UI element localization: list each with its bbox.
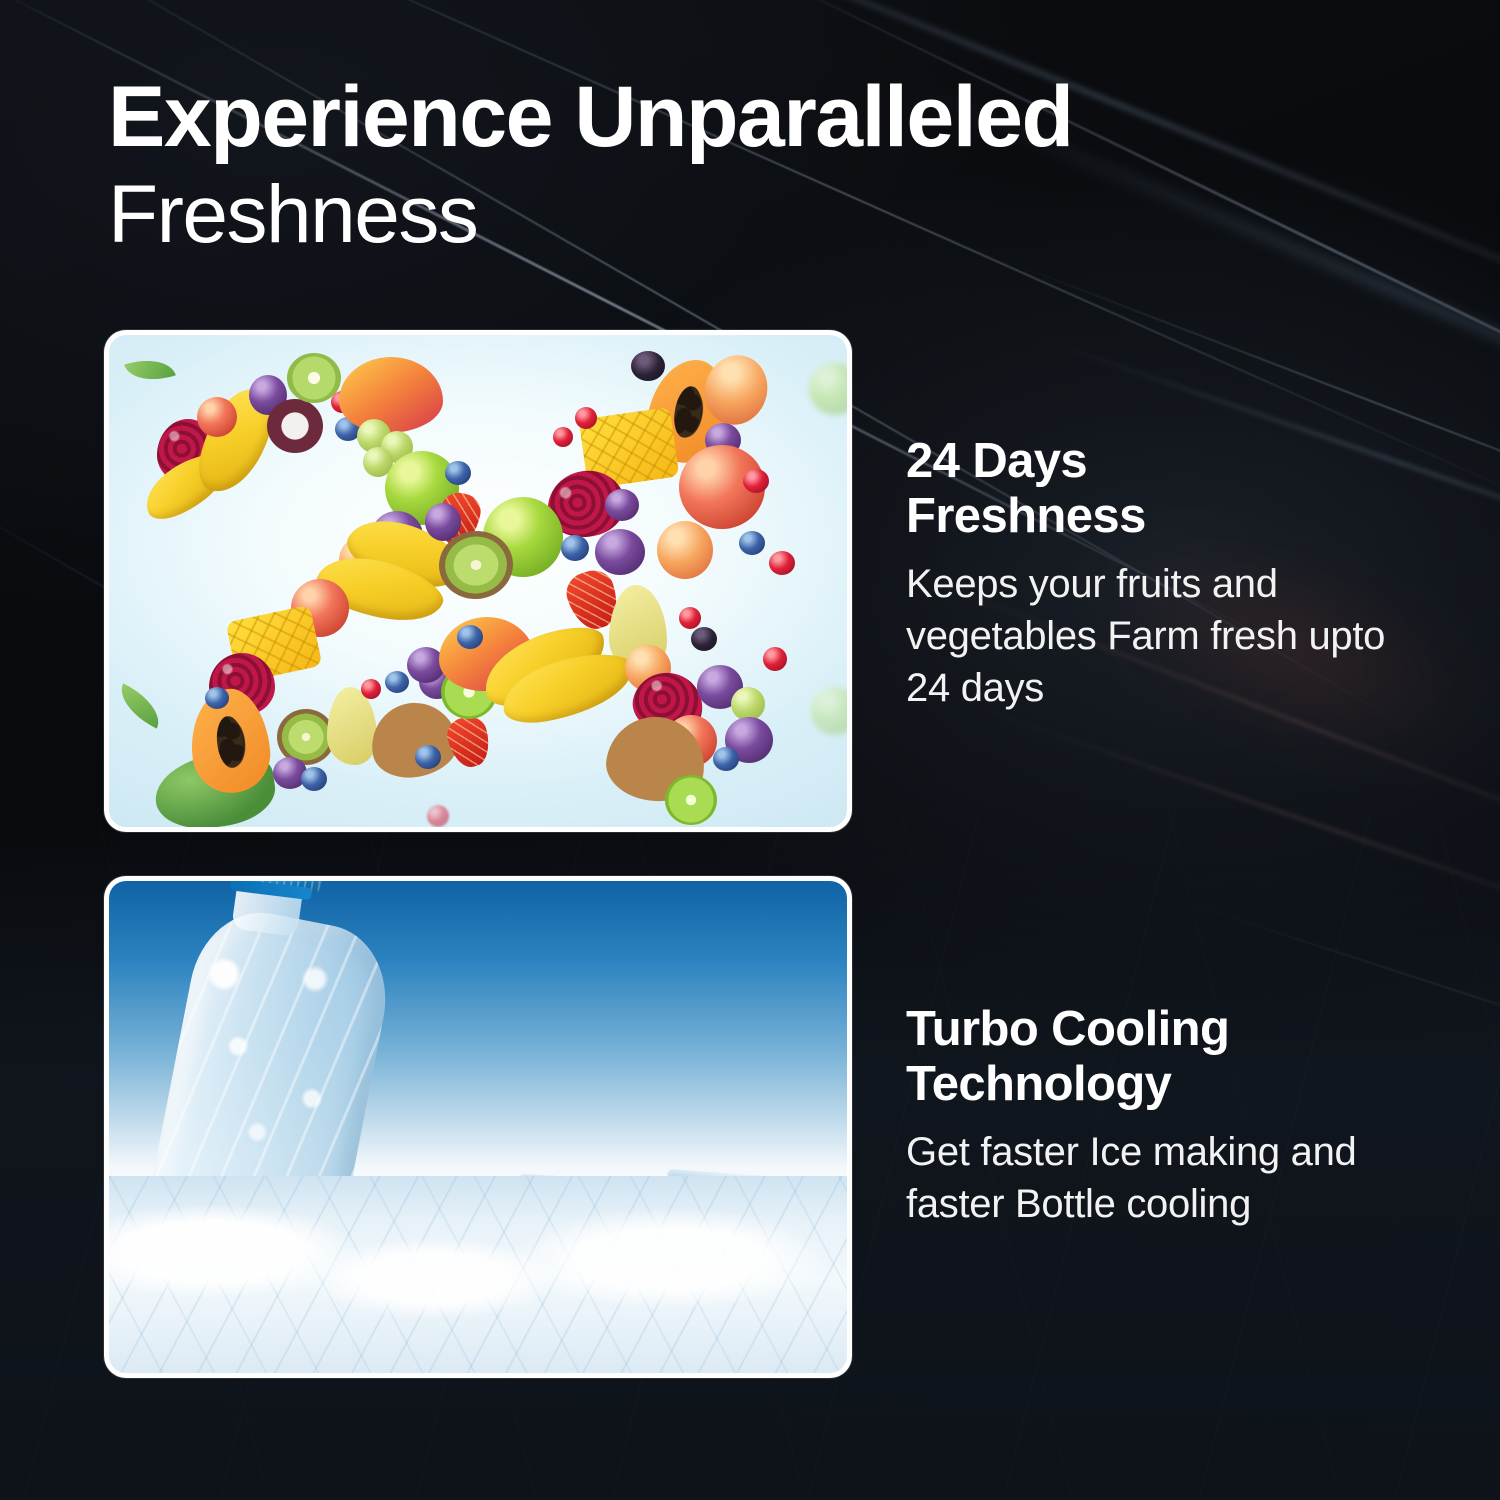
- feature-image-card-turbo-cooling: [104, 876, 852, 1378]
- product-feature-poster: Experience Unparalleled Freshness: [0, 0, 1500, 1500]
- fruit-berry: [361, 679, 381, 699]
- fruit-lime: [665, 775, 717, 825]
- fruit-berry: [679, 607, 701, 629]
- fruit-grape: [731, 687, 765, 721]
- fruit-blueberry: [561, 535, 589, 561]
- fruit-apple-red: [197, 397, 237, 437]
- feature-text-freshness: 24 Days Freshness Keeps your fruits and …: [906, 434, 1406, 714]
- feature-body-freshness: Keeps your fruits and vegetables Farm fr…: [906, 558, 1406, 714]
- feature-title-line-2: Technology: [906, 1057, 1171, 1111]
- feature-text-turbo-cooling: Turbo Cooling Technology Get faster Ice …: [906, 1002, 1406, 1230]
- fruit-blueberry: [301, 767, 327, 791]
- fruit-berry: [575, 407, 597, 429]
- headline-line-2: Freshness: [108, 174, 1258, 256]
- feature-body-turbo-cooling: Get faster Ice making and faster Bottle …: [906, 1126, 1406, 1230]
- ice-field: [109, 1176, 847, 1373]
- fruit-berry: [763, 647, 787, 671]
- feature-title-freshness: 24 Days Freshness: [906, 434, 1406, 544]
- fruit-blueberry: [205, 687, 229, 709]
- feature-title-line-1: Turbo Cooling: [906, 1002, 1229, 1056]
- page-title: Experience Unparalleled Freshness: [108, 74, 1258, 256]
- fruit-peach: [657, 521, 713, 579]
- fruit-berry: [553, 427, 573, 447]
- fruit-blueberry: [739, 531, 765, 555]
- ice-scene: [109, 881, 847, 1373]
- fruit-blueberry: [713, 747, 739, 771]
- blurred-fruit: [427, 805, 449, 827]
- feature-title-line-1: 24 Days: [906, 434, 1087, 488]
- fruit-blueberry: [385, 671, 409, 693]
- fruit-plum: [605, 489, 639, 521]
- feature-title-turbo-cooling: Turbo Cooling Technology: [906, 1002, 1406, 1112]
- feature-title-line-2: Freshness: [906, 489, 1146, 543]
- fruit-berry: [743, 469, 769, 493]
- fruit-plum: [425, 503, 461, 541]
- fruit-blueberry: [457, 625, 483, 649]
- fruit-mangosteen: [267, 399, 323, 453]
- headline-line-1: Experience Unparalleled: [108, 74, 1258, 160]
- feature-image-card-freshness: [104, 330, 852, 832]
- fruit-blueberry: [415, 745, 441, 769]
- fruit-berry: [769, 551, 795, 575]
- fruit-scene: [109, 335, 847, 827]
- fruit-blackberry: [691, 627, 717, 651]
- fruit-blackberry: [631, 351, 665, 381]
- fruit-plum: [595, 529, 645, 575]
- fruit-blueberry: [445, 461, 471, 485]
